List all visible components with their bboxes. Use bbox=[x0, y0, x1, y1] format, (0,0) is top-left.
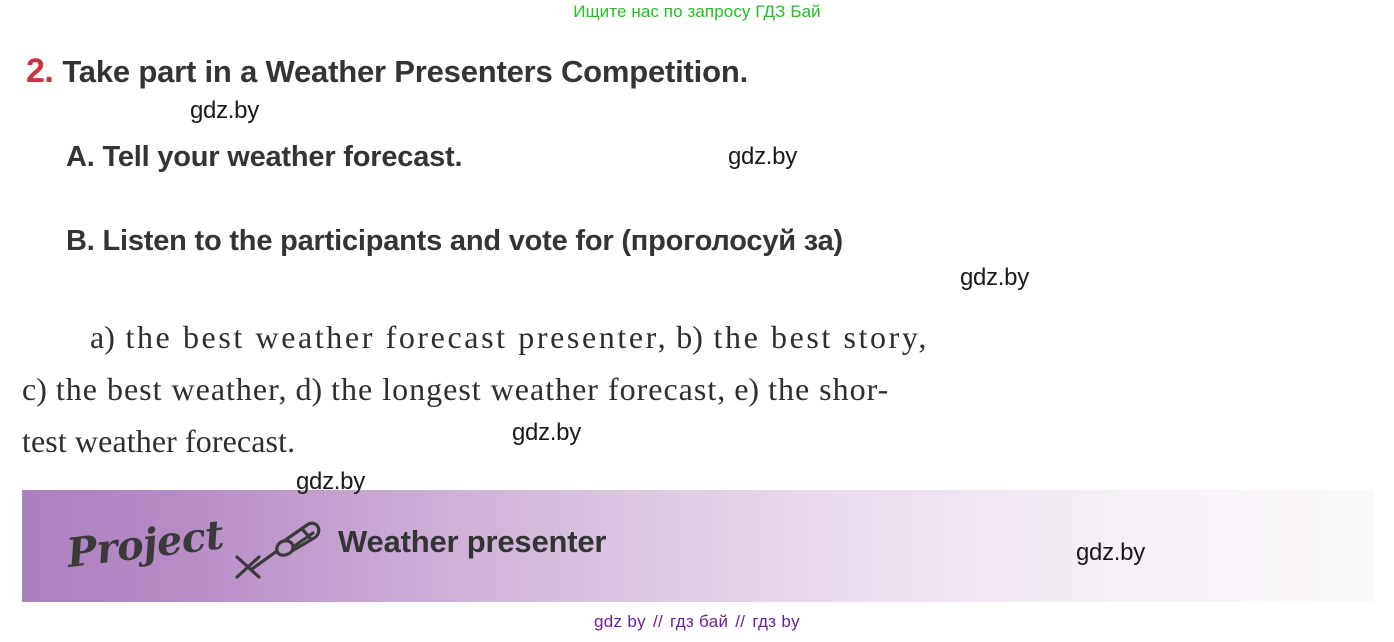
answer-line: c) the best weather, d) the longest weat… bbox=[22, 363, 1374, 415]
watermark: gdz.by bbox=[960, 264, 1029, 292]
footer-part-2: гдз бай bbox=[670, 612, 728, 631]
answer-segment: the best weather forecast presenter, bbox=[115, 319, 668, 355]
watermark: gdz.by bbox=[728, 143, 797, 171]
answer-segment: d) bbox=[287, 371, 322, 407]
watermark: gdz.by bbox=[296, 468, 365, 496]
answer-segment: the best story, bbox=[703, 319, 929, 355]
exercise-heading: 2.Take part in a Weather Presenters Comp… bbox=[26, 52, 748, 91]
project-banner: Project Weather presenter bbox=[22, 490, 1374, 602]
pen-icon bbox=[215, 512, 325, 584]
watermark: gdz.by bbox=[512, 419, 581, 447]
project-logo-word: Project bbox=[64, 511, 226, 577]
answer-segment: a) bbox=[90, 319, 115, 355]
answer-segment: test weather forecast. bbox=[22, 423, 295, 459]
footer-part-1: gdz by bbox=[594, 612, 646, 631]
footer-part-3: гдз by bbox=[752, 612, 800, 631]
answer-line: a) the best weather forecast presenter, … bbox=[22, 311, 1374, 363]
project-banner-title: Weather presenter bbox=[338, 524, 606, 560]
exercise-title: Take part in a Weather Presenters Compet… bbox=[62, 54, 748, 89]
task-b-heading: B. Listen to the participants and vote f… bbox=[66, 225, 843, 258]
footer-separator-2: // bbox=[735, 612, 745, 631]
top-promo-banner: Ищите нас по запросу ГДЗ Бай bbox=[0, 2, 1394, 22]
answer-segment: the shor- bbox=[759, 371, 889, 407]
footer-separator-1: // bbox=[653, 612, 663, 631]
task-a-heading: A. Tell your weather forecast. bbox=[66, 141, 462, 174]
answer-line: test weather forecast. bbox=[22, 415, 1374, 467]
watermark: gdz.by bbox=[190, 97, 259, 125]
answer-segment: b) bbox=[668, 319, 703, 355]
answer-options-text: a) the best weather forecast presenter, … bbox=[22, 311, 1374, 467]
project-logo: Project bbox=[70, 516, 320, 592]
watermark: gdz.by bbox=[1076, 539, 1145, 567]
footer-links: gdz by//гдз бай//гдз by bbox=[0, 612, 1394, 632]
exercise-number: 2. bbox=[26, 52, 53, 90]
answer-segment: the best weather, bbox=[47, 371, 288, 407]
answer-segment: the longest weather forecast, bbox=[322, 371, 726, 407]
answer-segment: c) bbox=[22, 371, 47, 407]
page-root: Ищите нас по запросу ГДЗ Бай 2.Take part… bbox=[0, 0, 1394, 642]
answer-segment: e) bbox=[726, 371, 759, 407]
